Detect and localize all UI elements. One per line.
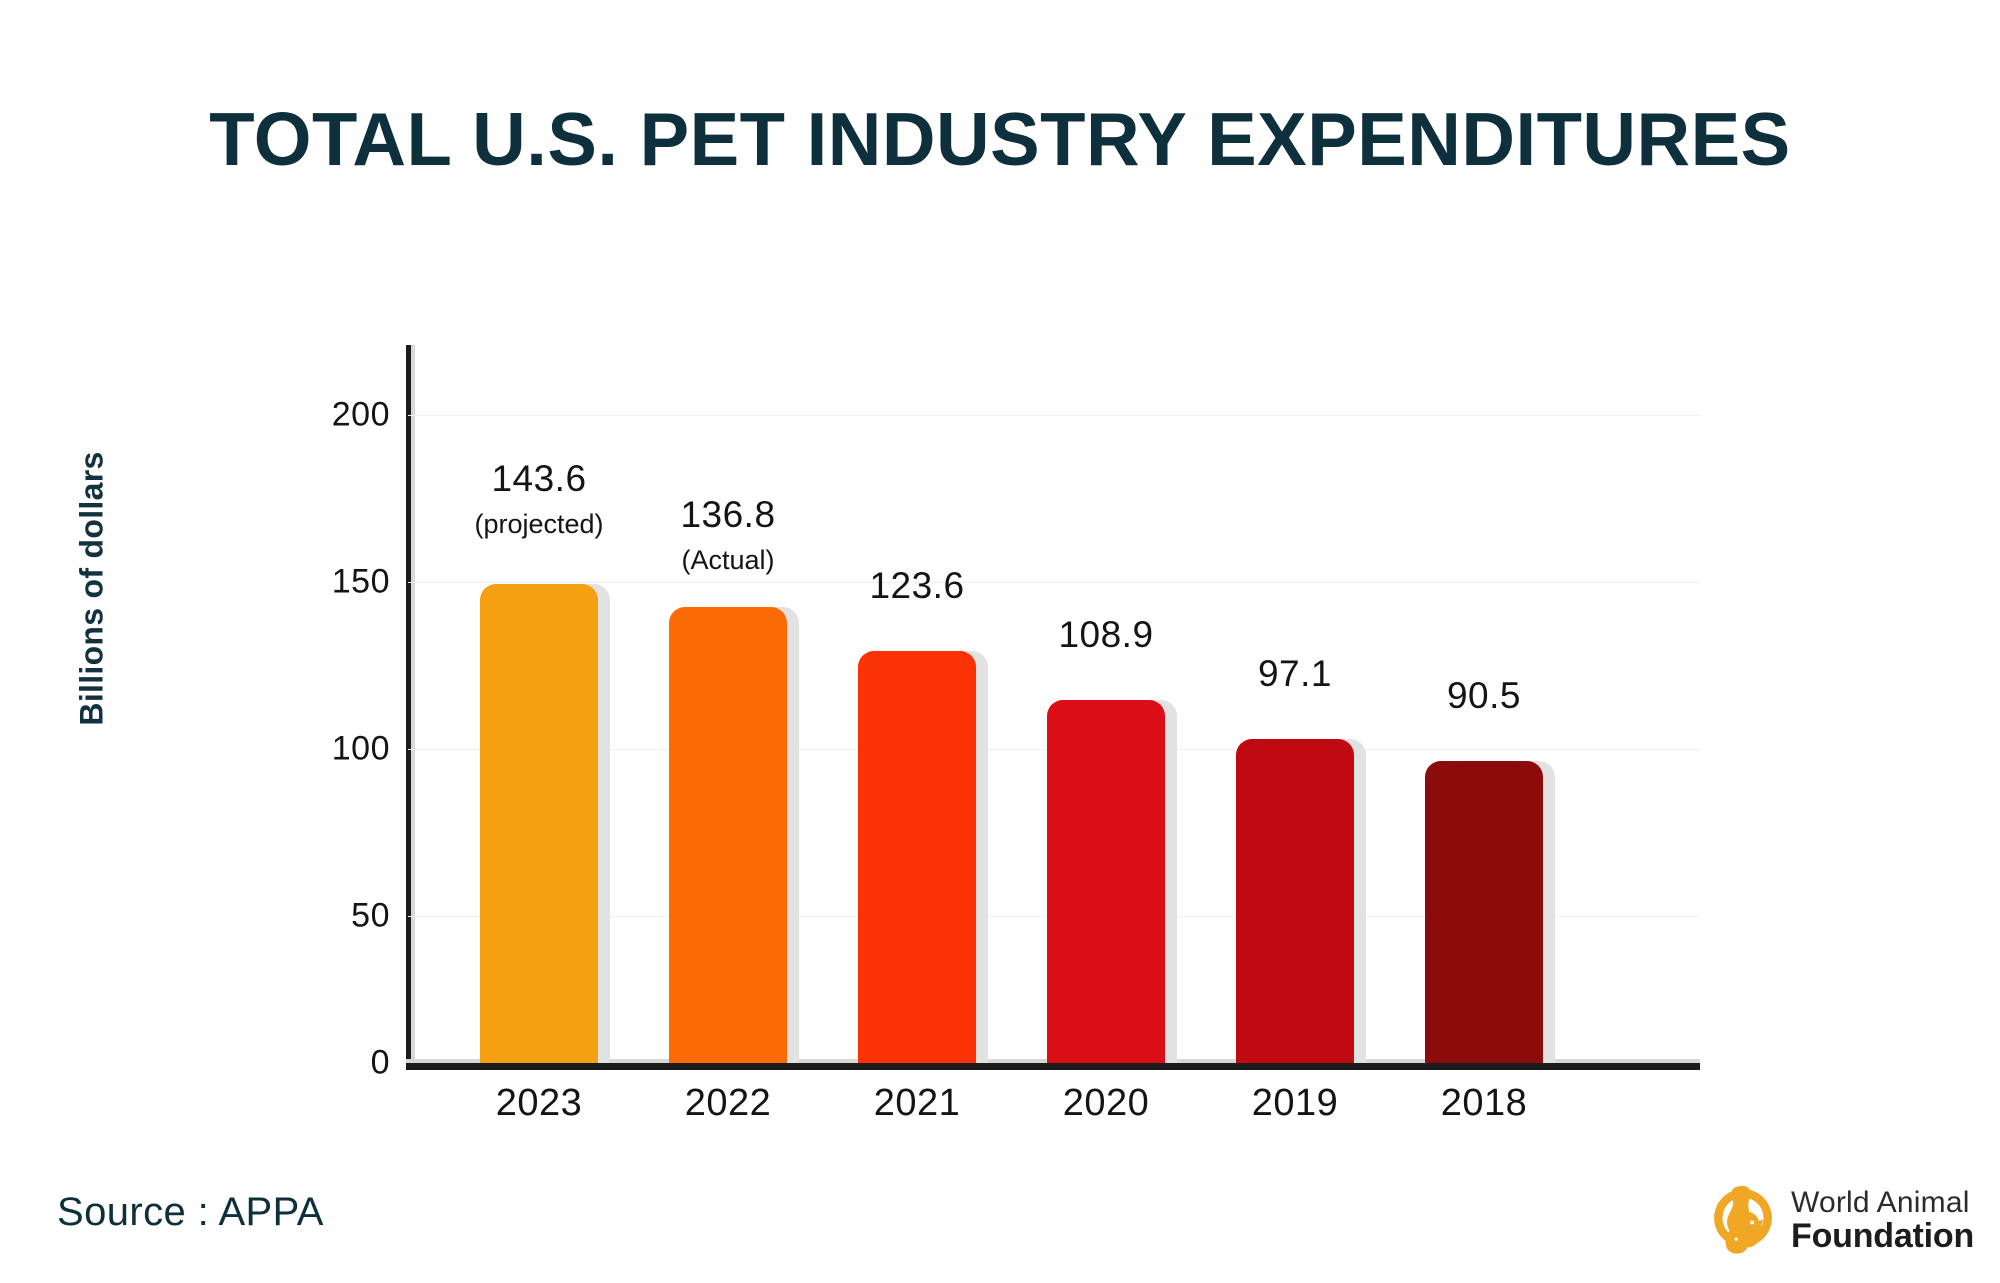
x-tick-label-2018: 2018 [1364, 1082, 1604, 1125]
logo-line-foundation: Foundation [1791, 1219, 1974, 1254]
x-axis-spine [406, 1063, 1700, 1070]
logo-wordmark: World Animal Foundation [1791, 1188, 1974, 1253]
y-axis-tick-labels: 200 150 100 50 0 [260, 345, 390, 1063]
bar-value-label: 123.6 [798, 565, 1036, 607]
y-tick-label: 50 [270, 897, 390, 936]
y-axis-title: Billions of dollars [74, 409, 111, 769]
y-tick-label: 0 [270, 1044, 390, 1083]
source-label: Source : APPA [57, 1190, 324, 1235]
bar-2018[interactable] [1425, 761, 1543, 1063]
logo-line-world-animal: World Animal [1791, 1188, 1974, 1219]
world-animal-foundation-circle-mark [1705, 1183, 1781, 1259]
bar-value-label: 136.8 [609, 494, 847, 536]
bar-2020[interactable] [1047, 700, 1165, 1063]
bar-2023[interactable] [480, 584, 598, 1063]
logo[interactable]: World Animal Foundation [1705, 1178, 1975, 1264]
bar-value-label: 108.9 [987, 614, 1225, 656]
bar-2021[interactable] [858, 651, 976, 1063]
y-tick-label: 150 [270, 563, 390, 602]
bar-value-label: 90.5 [1365, 675, 1603, 717]
page-title: TOTAL U.S. PET INDUSTRY EXPENDITURES [10, 96, 1990, 182]
y-tick-label: 100 [270, 730, 390, 769]
plot-area: 143.6 (projected) 136.8 (Actual) 123.6 1… [408, 345, 1700, 1063]
bar-2019[interactable] [1236, 739, 1354, 1063]
gridline-150 [408, 582, 1700, 583]
bar-2022[interactable] [669, 607, 787, 1063]
gridline-200 [408, 415, 1700, 416]
y-tick-label: 200 [270, 396, 390, 435]
